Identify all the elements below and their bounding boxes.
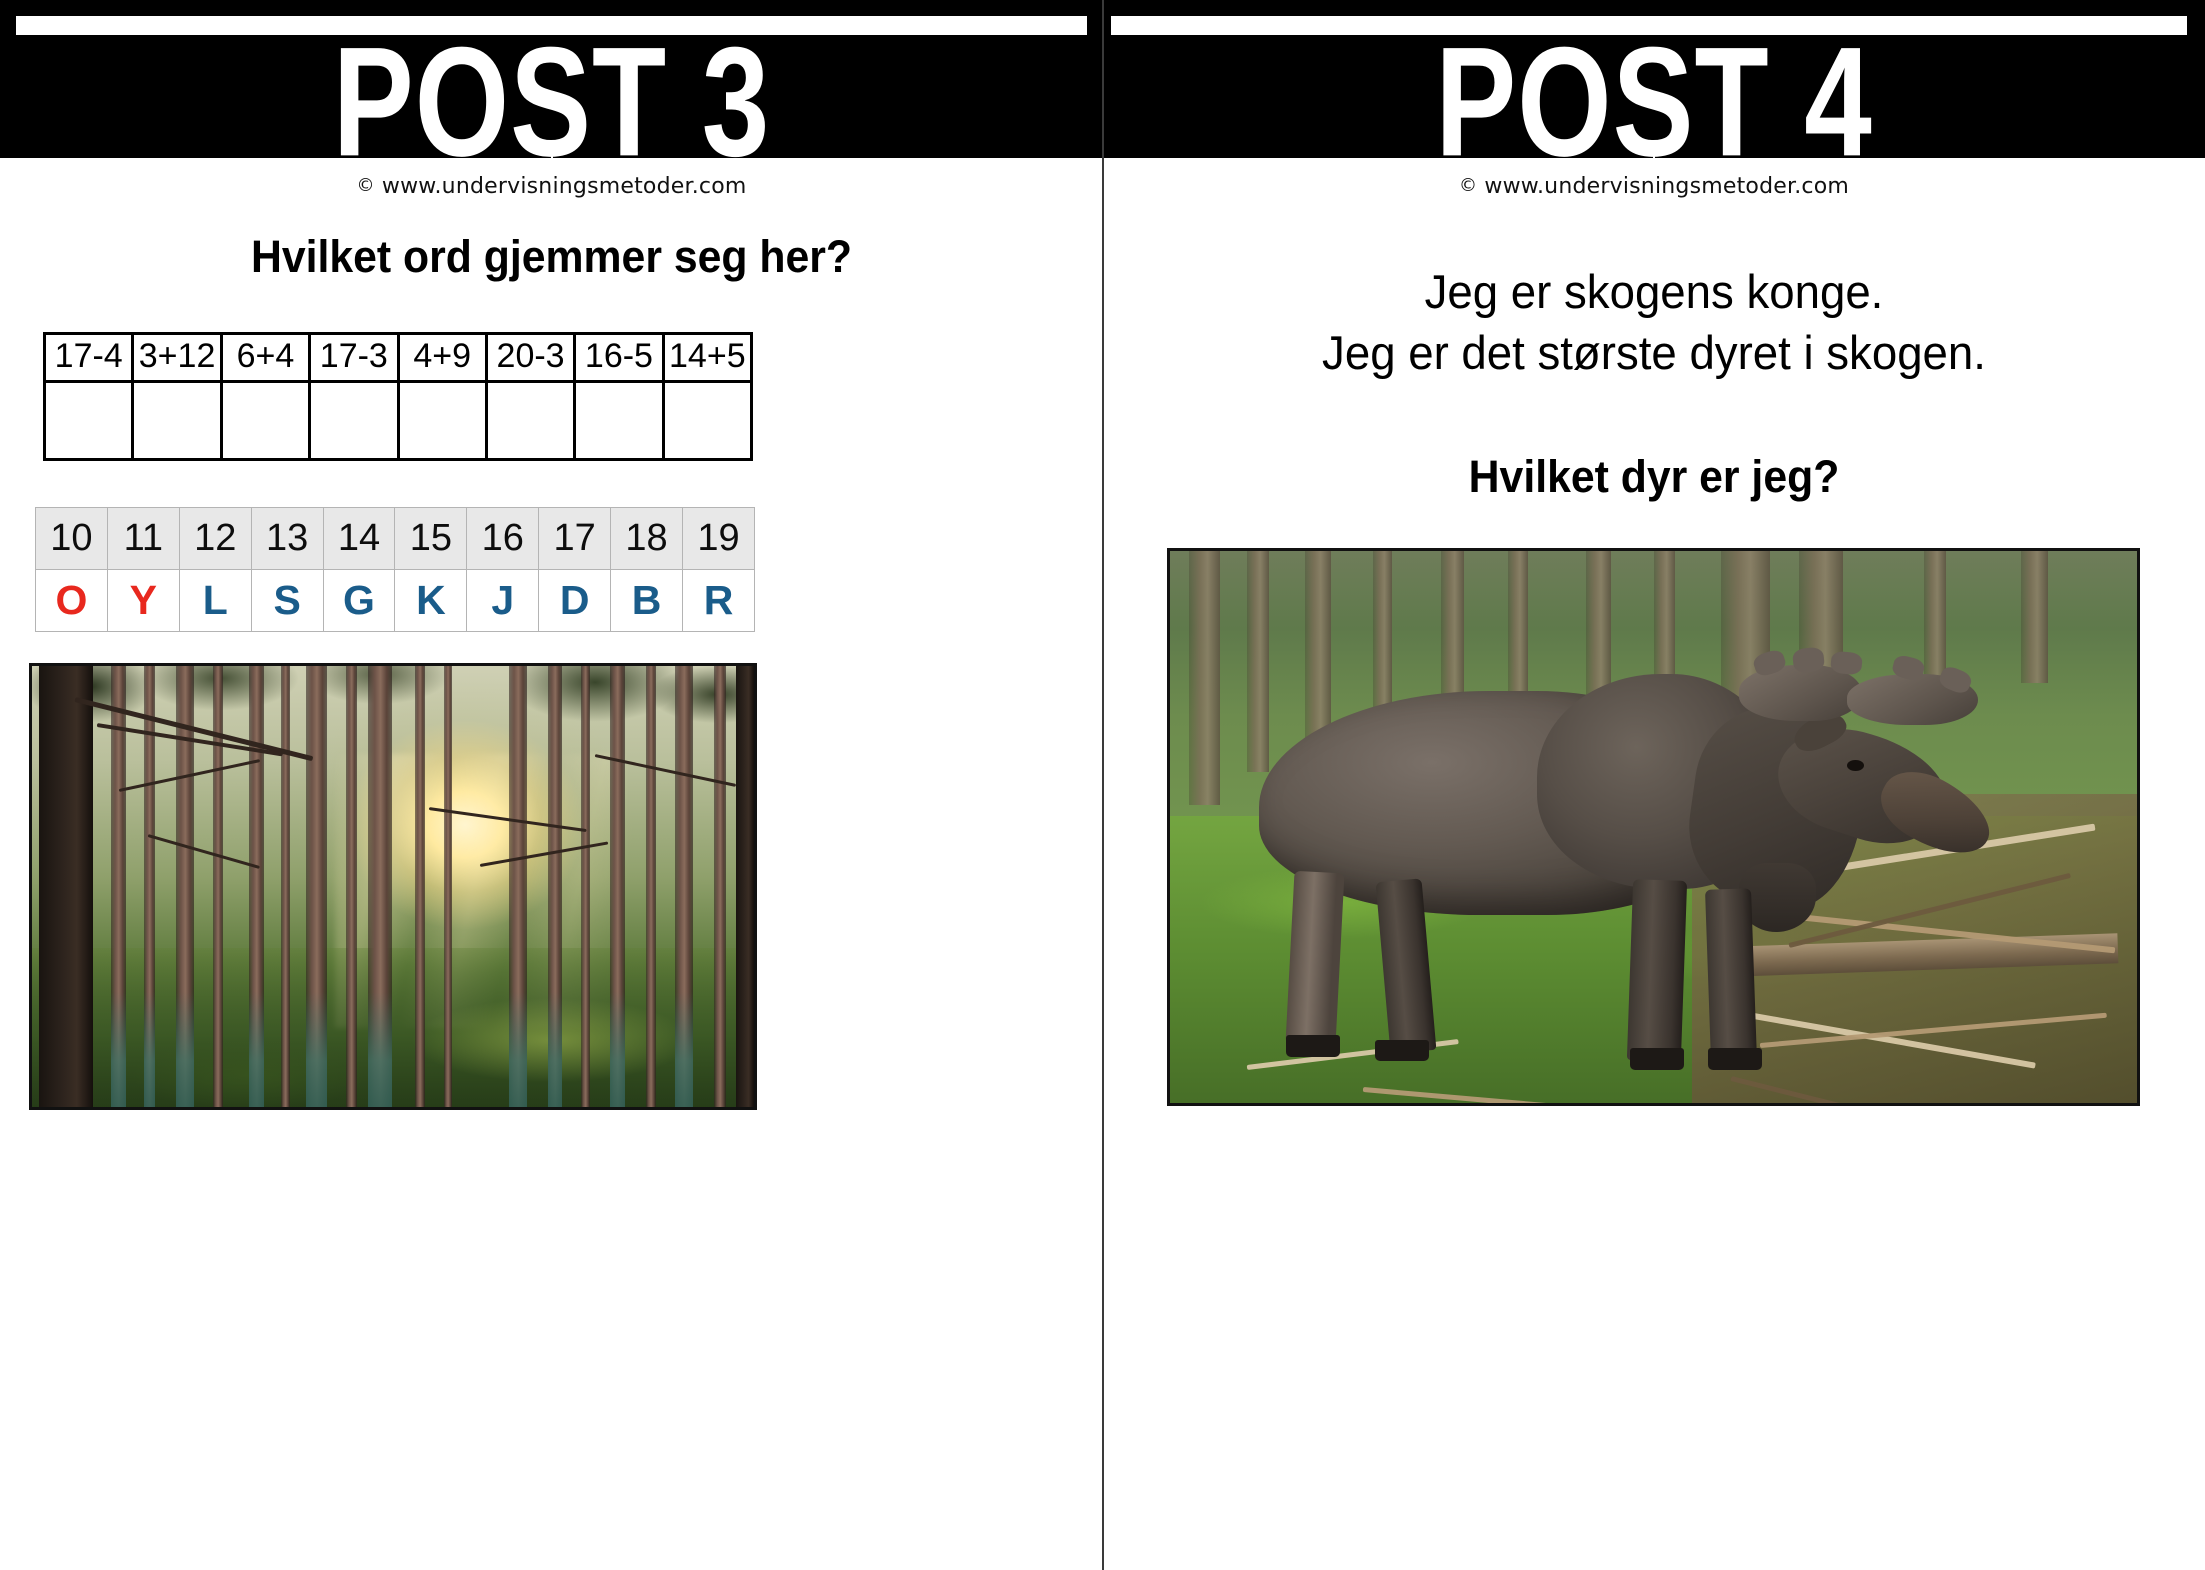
tree-trunk [346, 666, 357, 1107]
tree-trunk [39, 666, 93, 1107]
tree-trunk [111, 666, 125, 1107]
moose-leg-front [1285, 871, 1344, 1046]
key-letter-cell: B [611, 570, 683, 632]
answer-cell[interactable] [575, 382, 663, 460]
key-number-row: 10 11 12 13 14 15 16 17 18 19 [36, 508, 755, 570]
riddle-line-2: Jeg er det største dyret i skogen. [1322, 326, 1986, 379]
moose-leg-rear [1705, 888, 1757, 1062]
panel-body-post-3: © www.undervisningsmetoder.com Hvilket o… [0, 158, 1103, 1570]
tree-trunk [610, 666, 626, 1107]
expression-cell: 14+5 [663, 334, 751, 382]
tree-trunk [415, 666, 425, 1107]
question-heading-left: Hvilket ord gjemmer seg her? [28, 231, 1076, 283]
tree-trunk [176, 666, 193, 1107]
panel-post-3: POST 3 © www.undervisningsmetoder.com Hv… [0, 0, 1103, 1570]
moose-antler-tine [1830, 651, 1863, 676]
moose-hoof [1630, 1048, 1684, 1070]
registration-crosshair-icon [1648, 140, 1660, 158]
key-number-cell: 15 [395, 508, 467, 570]
moose-photo [1167, 548, 2140, 1106]
answer-row [45, 382, 752, 460]
key-number-cell: 13 [251, 508, 323, 570]
panel-divider [1102, 0, 1104, 1570]
key-letter-cell: L [179, 570, 251, 632]
copyright-mark-icon: © [1459, 175, 1477, 196]
key-letter-cell: G [323, 570, 395, 632]
key-number-cell: 18 [611, 508, 683, 570]
expression-cell: 6+4 [221, 334, 309, 382]
key-number-cell: 19 [683, 508, 755, 570]
expression-cell: 16-5 [575, 334, 663, 382]
background-trunk [1189, 551, 1220, 805]
question-heading-right: Hvilket dyr er jeg? [1131, 451, 2178, 503]
key-letter-cell: J [467, 570, 539, 632]
moose-figure [1228, 639, 2002, 1070]
key-letter-cell: R [683, 570, 755, 632]
moose-hoof [1708, 1048, 1762, 1070]
key-letter-cell: K [395, 570, 467, 632]
key-number-cell: 16 [467, 508, 539, 570]
expression-cell: 20-3 [486, 334, 574, 382]
header-post-3: POST 3 [0, 0, 1103, 158]
tree-trunk [548, 666, 562, 1107]
moose-leg-rear [1627, 880, 1687, 1063]
header-post-4: POST 4 [1103, 0, 2205, 158]
answer-cell[interactable] [398, 382, 486, 460]
key-number-cell: 12 [179, 508, 251, 570]
riddle-line-1: Jeg er skogens konge. [1425, 265, 1884, 318]
copyright-mark-icon: © [357, 175, 375, 196]
copyright-url-left: www.undervisningsmetoder.com [382, 174, 747, 199]
answer-cell[interactable] [663, 382, 751, 460]
tree-trunk [444, 666, 453, 1107]
key-letter-row: O Y L S G K J D B R [36, 570, 755, 632]
key-number-cell: 14 [323, 508, 395, 570]
riddle-text: Jeg er skogens konge. Jeg er det største… [1120, 261, 2189, 383]
tree-trunk [249, 666, 264, 1107]
tree-trunk [675, 666, 694, 1107]
worksheet-sheet: POST 3 © www.undervisningsmetoder.com Hv… [0, 0, 2205, 1570]
moose-hoof [1286, 1035, 1340, 1057]
panel-post-4: POST 4 © www.undervisningsmetoder.com Je… [1103, 0, 2205, 1570]
moose-hoof [1375, 1040, 1429, 1062]
key-number-cell: 11 [107, 508, 179, 570]
moose-antler-tine [1792, 646, 1825, 673]
key-number-cell: 17 [539, 508, 611, 570]
registration-crosshair-icon [546, 140, 558, 158]
copyright-notice-left: © www.undervisningsmetoder.com [0, 158, 1103, 199]
background-trunk [2021, 551, 2048, 683]
key-number-cell: 10 [36, 508, 108, 570]
tree-trunk [306, 666, 326, 1107]
moose-eye [1847, 760, 1864, 771]
tree-trunk [736, 666, 754, 1107]
answer-cell[interactable] [221, 382, 309, 460]
key-letter-cell: S [251, 570, 323, 632]
forest-scene [32, 666, 754, 1107]
key-letter-cell: O [36, 570, 108, 632]
copyright-notice-right: © www.undervisningsmetoder.com [1103, 158, 2205, 199]
expression-cell: 3+12 [133, 334, 221, 382]
tree-trunk [509, 666, 528, 1107]
expression-table: 17-4 3+12 6+4 17-3 4+9 20-3 16-5 14+5 [43, 332, 753, 461]
tree-trunk [368, 666, 393, 1107]
tree-trunk [581, 666, 590, 1107]
answer-cell[interactable] [310, 382, 398, 460]
letter-key-table: 10 11 12 13 14 15 16 17 18 19 O Y [35, 507, 755, 632]
key-letter-cell: Y [107, 570, 179, 632]
expression-cell: 4+9 [398, 334, 486, 382]
tree-trunk [714, 666, 726, 1107]
answer-cell[interactable] [45, 382, 133, 460]
moose-scene [1170, 551, 2137, 1103]
answer-cell[interactable] [133, 382, 221, 460]
tree-trunk [646, 666, 656, 1107]
answer-cell[interactable] [486, 382, 574, 460]
forest-photo [29, 663, 757, 1110]
panel-body-post-4: © www.undervisningsmetoder.com Jeg er sk… [1103, 158, 2205, 1570]
expression-cell: 17-3 [310, 334, 398, 382]
expression-row: 17-4 3+12 6+4 17-3 4+9 20-3 16-5 14+5 [45, 334, 752, 382]
copyright-url-right: www.undervisningsmetoder.com [1484, 174, 1849, 199]
key-letter-cell: D [539, 570, 611, 632]
expression-cell: 17-4 [45, 334, 133, 382]
tree-trunk [281, 666, 290, 1107]
